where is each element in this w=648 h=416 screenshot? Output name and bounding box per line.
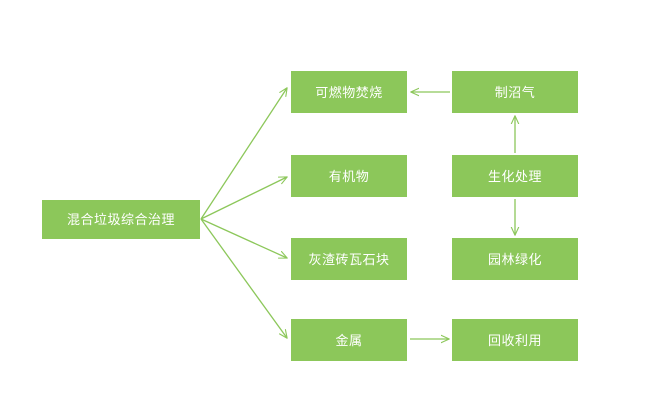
node-organic[interactable]: 有机物 [291, 155, 407, 197]
node-incinerate[interactable]: 可燃物焚烧 [291, 71, 407, 113]
edge-source-to-incinerate [201, 88, 287, 219]
edge-source-to-metal [201, 219, 287, 338]
node-landscape[interactable]: 园林绿化 [452, 238, 578, 280]
node-label-biochem: 生化处理 [488, 170, 542, 183]
edge-source-to-organic [201, 177, 287, 219]
node-biogas[interactable]: 制沼气 [452, 71, 578, 113]
node-metal[interactable]: 金属 [291, 319, 407, 361]
node-label-organic: 有机物 [329, 170, 370, 183]
node-label-biogas: 制沼气 [495, 86, 536, 99]
node-label-landscape: 园林绿化 [488, 253, 542, 266]
node-label-recycle: 回收利用 [488, 334, 542, 347]
edge-source-to-ash [201, 219, 287, 258]
node-biochem[interactable]: 生化处理 [452, 155, 578, 197]
node-source[interactable]: 混合垃圾综合治理 [42, 200, 200, 239]
node-label-source: 混合垃圾综合治理 [67, 213, 175, 226]
node-label-incinerate: 可燃物焚烧 [315, 86, 383, 99]
flowchart-canvas: 混合垃圾综合治理可燃物焚烧制沼气有机物生化处理灰渣砖瓦石块园林绿化金属回收利用 [0, 0, 648, 416]
node-ash[interactable]: 灰渣砖瓦石块 [291, 238, 407, 280]
node-recycle[interactable]: 回收利用 [452, 319, 578, 361]
node-label-ash: 灰渣砖瓦石块 [308, 253, 389, 266]
node-label-metal: 金属 [335, 334, 362, 347]
